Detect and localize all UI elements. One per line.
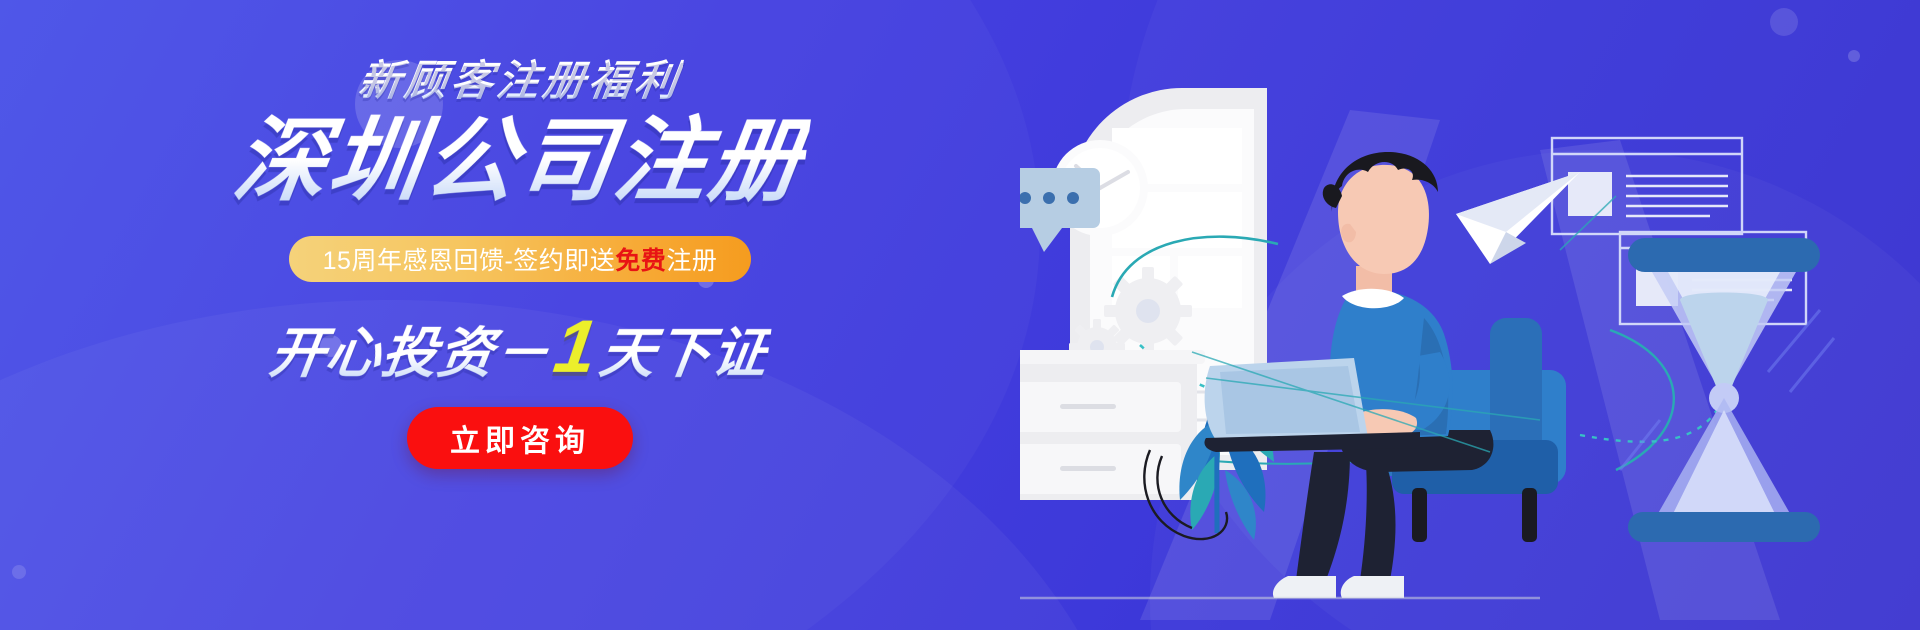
banner-copy-block: 新顾客注册福利 深圳公司注册 15周年感恩回馈-签约即送免费注册 开心投资－1天… xyxy=(0,0,1040,630)
banner-tagline: 开心投资－1天下证 xyxy=(265,308,774,386)
cabinet-icon xyxy=(1020,350,1205,500)
banner-eyebrow: 新顾客注册福利 xyxy=(356,58,685,104)
promo-pill-highlight: 免费 xyxy=(615,241,666,277)
promo-banner: 新顾客注册福利 深圳公司注册 15周年感恩回馈-签约即送免费注册 开心投资－1天… xyxy=(0,0,1920,630)
tagline-after: 天下证 xyxy=(596,325,772,383)
promo-pill: 15周年感恩回馈-签约即送免费注册 xyxy=(289,236,752,282)
tagline-before: 开心投资－ xyxy=(266,325,554,383)
banner-headline: 深圳公司注册 xyxy=(228,112,812,211)
hero-illustration xyxy=(1020,0,1920,630)
promo-pill-lead: 15周年感恩回馈-签约即送 xyxy=(323,241,616,277)
promo-pill-trail: 注册 xyxy=(666,241,717,277)
consult-now-button[interactable]: 立即咨询 xyxy=(407,407,633,469)
tagline-number: 1 xyxy=(549,308,602,386)
